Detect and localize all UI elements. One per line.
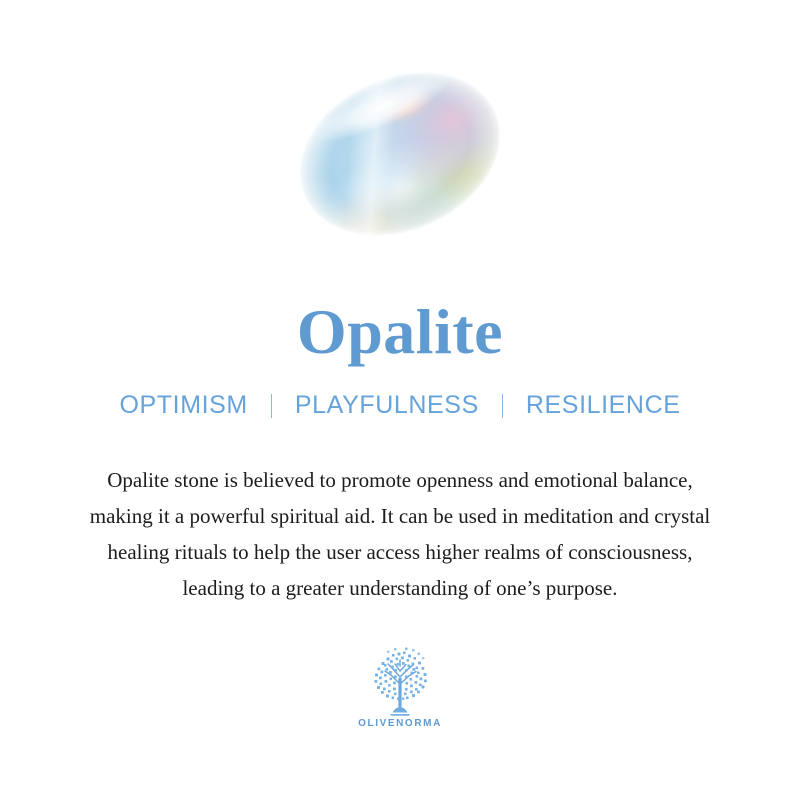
description-line: leading to a greater understanding of on… <box>20 570 780 606</box>
tree-of-life-icon <box>361 644 439 718</box>
description-text: Opalite stone is believed to promote ope… <box>20 462 780 606</box>
keyword-separator <box>271 394 272 418</box>
keyword-playfulness: PLAYFULNESS <box>293 393 481 418</box>
hero-image-area <box>0 0 800 300</box>
description-line: healing rituals to help the user access … <box>20 534 780 570</box>
page-title: Opalite <box>297 300 503 364</box>
opalite-stone-image <box>274 42 526 265</box>
brand-logo: OLIVENORMA <box>358 644 442 729</box>
description-line: Opalite stone is believed to promote ope… <box>20 462 780 498</box>
opalite-product-card: Opalite OPTIMISM PLAYFULNESS RESILIENCE … <box>0 0 800 800</box>
keyword-list: OPTIMISM PLAYFULNESS RESILIENCE <box>117 393 682 418</box>
keyword-optimism: OPTIMISM <box>117 393 249 418</box>
keyword-resilience: RESILIENCE <box>524 393 683 418</box>
description-line: making it a powerful spiritual aid. It c… <box>20 498 780 534</box>
brand-wordmark: OLIVENORMA <box>358 719 442 729</box>
keyword-separator <box>502 394 503 418</box>
